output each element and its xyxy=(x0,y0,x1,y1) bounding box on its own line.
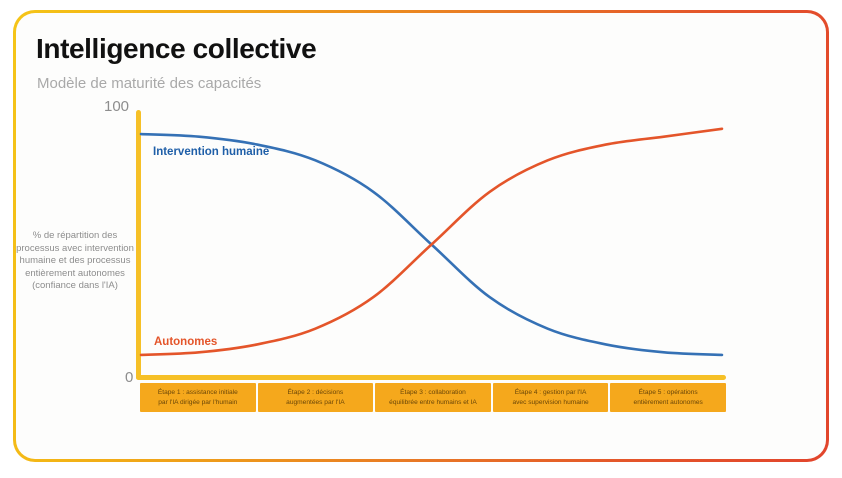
stage-label-line1: Étape 2 : décisions xyxy=(286,388,344,398)
x-axis-line xyxy=(136,375,726,380)
y-axis-min-label: 0 xyxy=(125,369,133,386)
stage-label-line1: Étape 5 : opérations xyxy=(634,388,703,398)
series-label-autonomes: Autonomes xyxy=(154,336,217,348)
page-subtitle: Modèle de maturité des capacités xyxy=(37,75,261,92)
chart-canvas: Intelligence collective Modèle de maturi… xyxy=(0,0,842,478)
stage-label-line2: entièrement autonomes xyxy=(634,398,703,408)
stage-box-4[interactable]: Étape 4 : gestion par l'IAavec supervisi… xyxy=(493,383,609,412)
y-axis-title: % de répartition des processus avec inte… xyxy=(16,230,134,293)
stage-bar: Étape 1 : assistance initialepar l'IA di… xyxy=(140,383,726,412)
stage-label-line2: avec supervision humaine xyxy=(512,398,588,408)
stage-box-3[interactable]: Étape 3 : collaborationéquilibrée entre … xyxy=(375,383,491,412)
stage-label-line1: Étape 1 : assistance initiale xyxy=(158,388,238,398)
stage-label: Étape 3 : collaborationéquilibrée entre … xyxy=(389,388,477,407)
y-axis-max-label: 100 xyxy=(104,98,129,115)
series-label-intervention-humaine: Intervention humaine xyxy=(153,146,269,158)
stage-box-2[interactable]: Étape 2 : décisionsaugmentées par l'IA xyxy=(258,383,374,412)
stage-label-line1: Étape 4 : gestion par l'IA xyxy=(512,388,588,398)
line-autonomes xyxy=(141,129,722,355)
y-axis-line xyxy=(136,110,141,380)
stage-label-line2: augmentées par l'IA xyxy=(286,398,344,408)
page-title: Intelligence collective xyxy=(36,33,316,65)
stage-label-line2: équilibrée entre humains et IA xyxy=(389,398,477,408)
slide-root: Intelligence collective Modèle de maturi… xyxy=(0,0,842,478)
stage-box-1[interactable]: Étape 1 : assistance initialepar l'IA di… xyxy=(140,383,256,412)
stage-label-line2: par l'IA dirigée par l'humain xyxy=(158,398,238,408)
stage-box-5[interactable]: Étape 5 : opérationsentièrement autonome… xyxy=(610,383,726,412)
stage-label: Étape 4 : gestion par l'IAavec supervisi… xyxy=(512,388,588,407)
stage-label: Étape 5 : opérationsentièrement autonome… xyxy=(634,388,703,407)
stage-label: Étape 1 : assistance initialepar l'IA di… xyxy=(158,388,238,407)
stage-label: Étape 2 : décisionsaugmentées par l'IA xyxy=(286,388,344,407)
stage-label-line1: Étape 3 : collaboration xyxy=(389,388,477,398)
line-intervention-humaine xyxy=(141,134,722,355)
